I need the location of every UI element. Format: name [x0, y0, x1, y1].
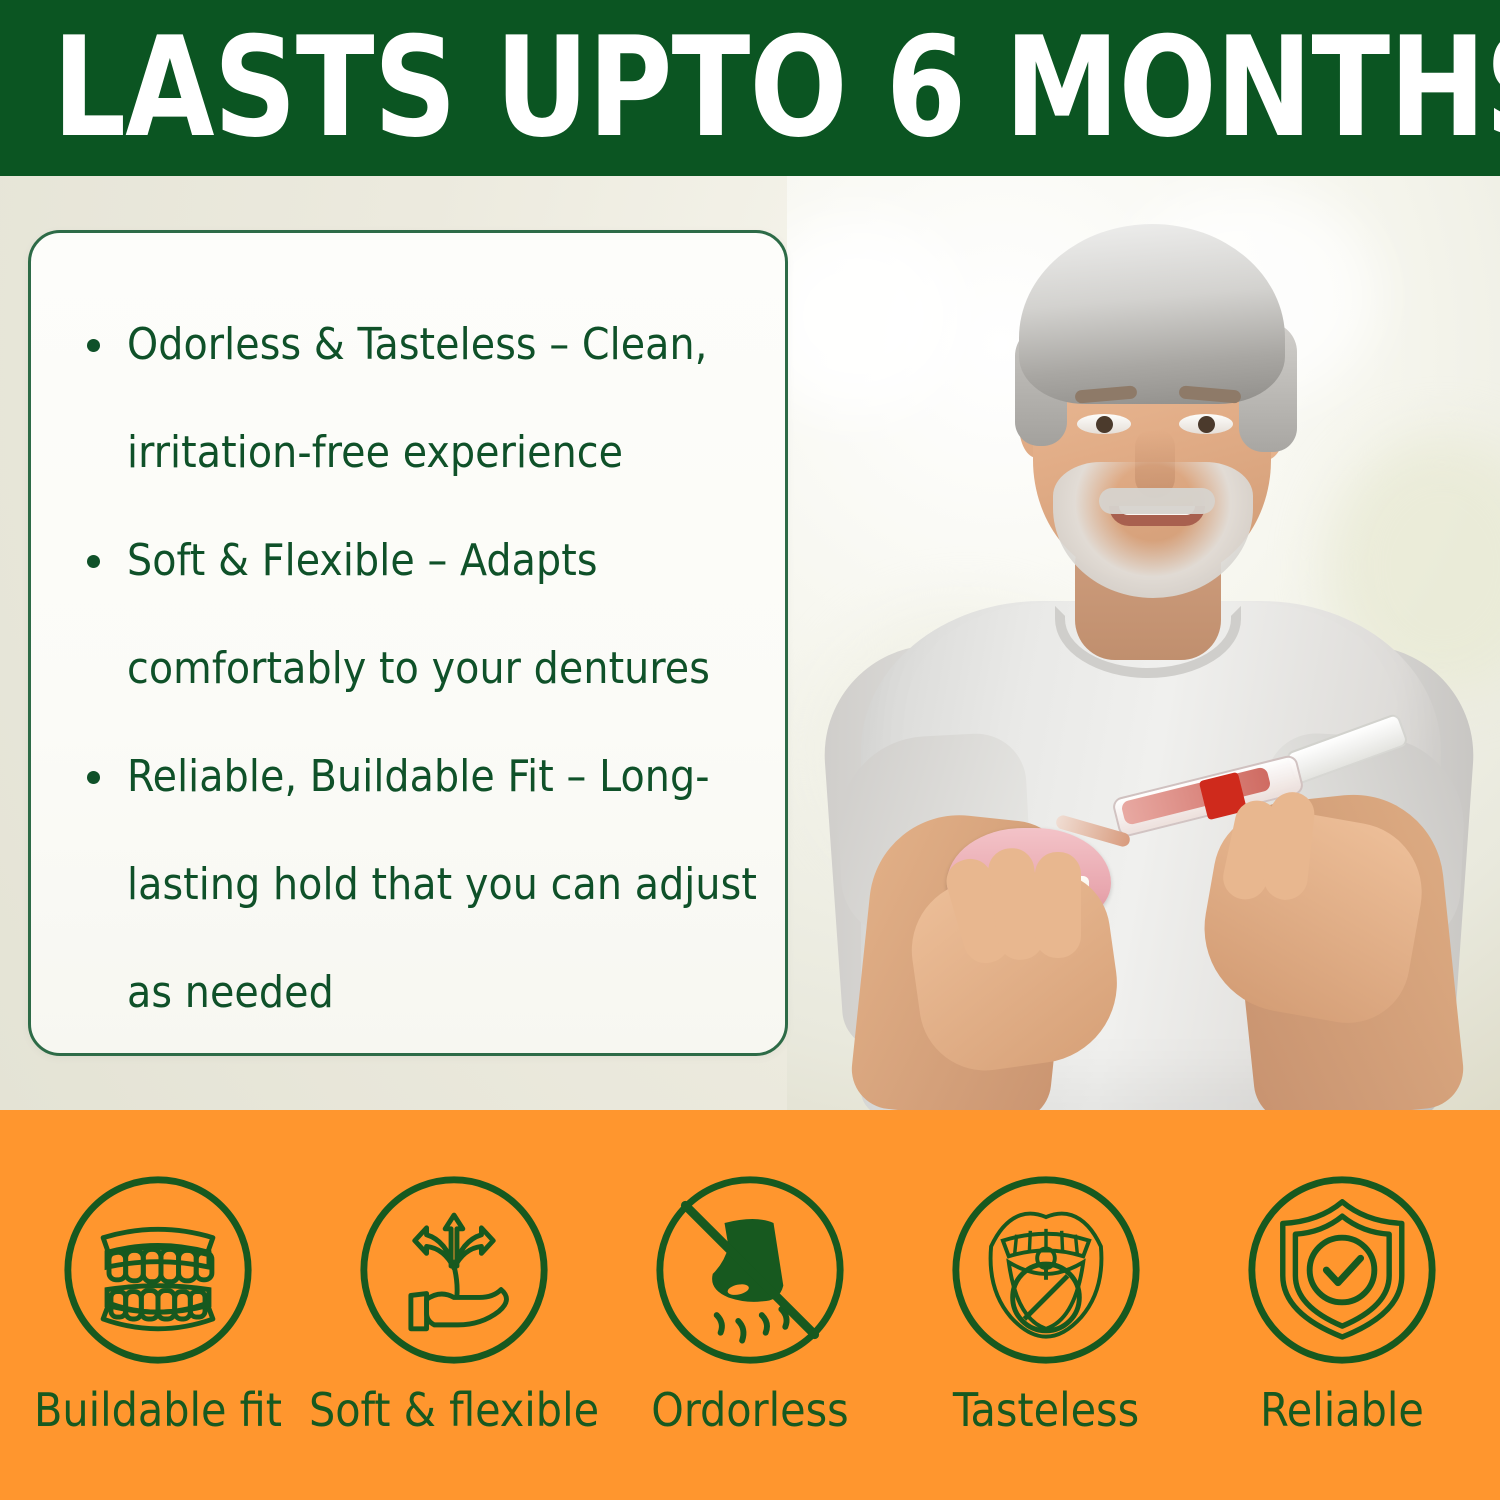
benefit-label: Reliable [1260, 1384, 1424, 1436]
feature-card: Odorless & Tasteless – Clean, irritation… [28, 230, 788, 1056]
shield-check-icon [1244, 1172, 1440, 1368]
page-title: LASTS UPTO 6 MONTHS [53, 8, 1448, 168]
benefit-item-reliable: Reliable [1200, 1172, 1484, 1436]
benefit-item-tasteless: Tasteless [904, 1172, 1188, 1436]
feature-list: Odorless & Tasteless – Clean, irritation… [65, 291, 757, 1047]
hair [1019, 224, 1285, 404]
dentures-icon [60, 1172, 256, 1368]
mouth-tongue-no-taste-icon [948, 1172, 1144, 1368]
header-band: LASTS UPTO 6 MONTHS [0, 0, 1500, 176]
moustache [1099, 488, 1215, 514]
infographic-page: LASTS UPTO 6 MONTHS [0, 0, 1500, 1500]
pupil-right [1198, 416, 1215, 433]
benefit-strip: Buildable fit Soft & flexible [0, 1110, 1500, 1500]
benefit-item-buildable-fit: Buildable fit [16, 1172, 300, 1436]
nose-no-odor-icon [652, 1172, 848, 1368]
person-figure [787, 176, 1500, 1110]
benefit-label: Soft & flexible [309, 1384, 599, 1436]
eye-right [1179, 414, 1233, 434]
benefit-item-ordorless: Ordorless [608, 1172, 892, 1436]
benefit-label: Ordorless [651, 1384, 848, 1436]
hand-flexible-arrows-icon [356, 1172, 552, 1368]
benefit-item-soft-flexible: Soft & flexible [312, 1172, 596, 1436]
benefit-label: Buildable fit [34, 1384, 282, 1436]
finger [1035, 852, 1081, 958]
pupil-left [1096, 416, 1113, 433]
feature-bullet-2: Soft & Flexible – Adapts comfortably to … [65, 507, 757, 723]
body-area: Odorless & Tasteless – Clean, irritation… [0, 176, 1500, 1110]
benefit-label: Tasteless [953, 1384, 1139, 1436]
eye-left [1077, 414, 1131, 434]
feature-bullet-3: Reliable, Buildable Fit – Long-lasting h… [65, 723, 757, 1047]
feature-bullet-1: Odorless & Tasteless – Clean, irritation… [65, 291, 757, 507]
product-photo [787, 176, 1500, 1110]
